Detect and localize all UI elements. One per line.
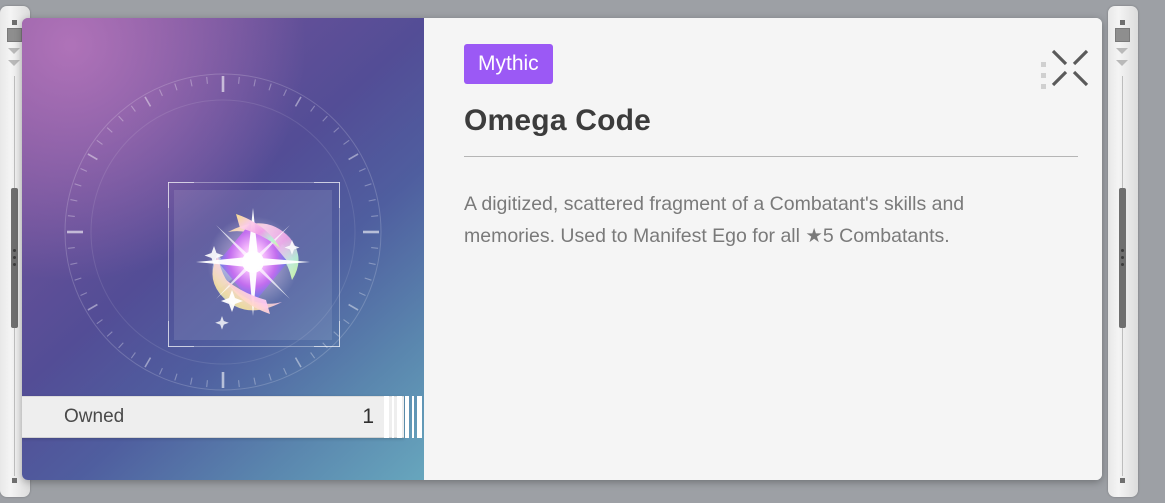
barcode-stripe <box>392 396 395 438</box>
barcode-stripe <box>384 396 389 438</box>
omega-code-gem-icon <box>178 192 328 338</box>
close-icon[interactable] <box>1044 42 1096 94</box>
right-scrollbar-square-icon[interactable] <box>1115 28 1130 42</box>
app-window: Owned 1 Mythic Omega Code A digitized, s… <box>0 0 1165 503</box>
barcode-stripe <box>417 396 422 438</box>
right-scrollbar-grip-dot <box>1121 263 1124 266</box>
barcode-decoration <box>384 396 424 438</box>
left-scrollbar-cap-bottom <box>12 478 17 483</box>
owned-label: Owned <box>64 406 124 428</box>
barcode-stripe <box>397 396 402 438</box>
left-scrollbar-grip-dot <box>13 256 16 259</box>
owned-bar: Owned 1 <box>22 396 404 438</box>
item-description: A digitized, scattered fragment of a Com… <box>464 189 1044 252</box>
rarity-badge: Mythic <box>464 44 553 84</box>
right-scrollbar[interactable] <box>1108 6 1138 497</box>
left-scrollbar-chevron-down-icon-1[interactable] <box>8 48 20 54</box>
owned-count: 1 <box>362 405 374 429</box>
left-scrollbar-grip-dot <box>13 249 16 252</box>
left-scrollbar-square-icon[interactable] <box>7 28 22 42</box>
right-scrollbar-cap-bottom <box>1120 478 1125 483</box>
item-detail-panel: Mythic Omega Code A digitized, scattered… <box>424 18 1102 480</box>
item-artwork-panel: Owned 1 <box>22 18 424 480</box>
item-title: Omega Code <box>464 104 1078 138</box>
right-scrollbar-chevron-down-icon-2[interactable] <box>1116 60 1128 66</box>
title-divider <box>464 156 1078 157</box>
right-scrollbar-grip-dot <box>1121 249 1124 252</box>
item-icon-tile <box>174 190 332 340</box>
barcode-stripe <box>412 396 415 438</box>
right-scrollbar-cap-top <box>1120 20 1125 25</box>
item-detail-dialog: Owned 1 Mythic Omega Code A digitized, s… <box>22 18 1102 480</box>
right-scrollbar-grip-dot <box>1121 256 1124 259</box>
barcode-stripe <box>405 396 409 438</box>
right-scrollbar-chevron-down-icon-1[interactable] <box>1116 48 1128 54</box>
left-scrollbar-grip-dot <box>13 263 16 266</box>
left-scrollbar-cap-top <box>12 20 17 25</box>
left-scrollbar-chevron-down-icon-2[interactable] <box>8 60 20 66</box>
